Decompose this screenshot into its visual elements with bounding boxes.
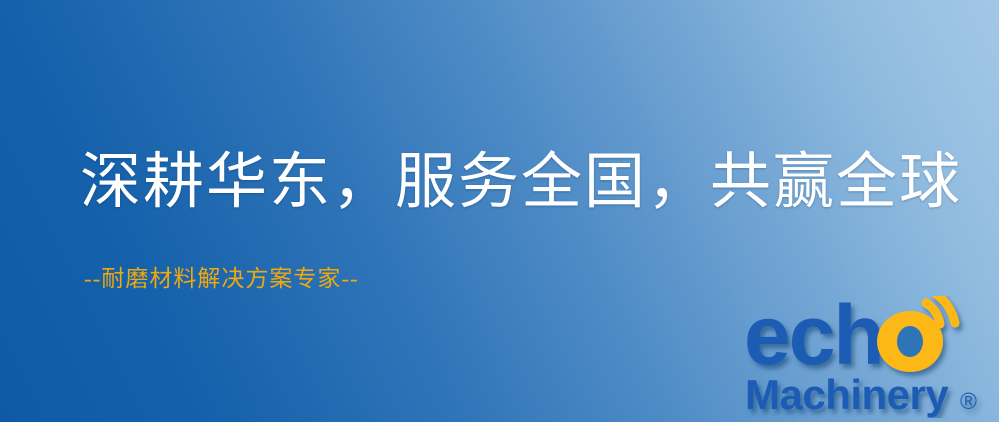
logo-registered-mark: ® [960, 388, 977, 414]
logo-wordmark-echo-blue: ech [744, 296, 883, 382]
echo-machinery-logo: ech Machinery ® [744, 296, 996, 418]
banner-subtitle: --耐磨材料解决方案专家-- [84, 267, 359, 290]
logo-accent-letter-o [877, 311, 943, 372]
logo-subwordmark-machinery: Machinery [745, 371, 949, 418]
banner-headline: 深耕华东，服务全国，共赢全球 [80, 152, 962, 213]
hero-banner: 深耕华东，服务全国，共赢全球 --耐磨材料解决方案专家-- ech [0, 0, 999, 422]
